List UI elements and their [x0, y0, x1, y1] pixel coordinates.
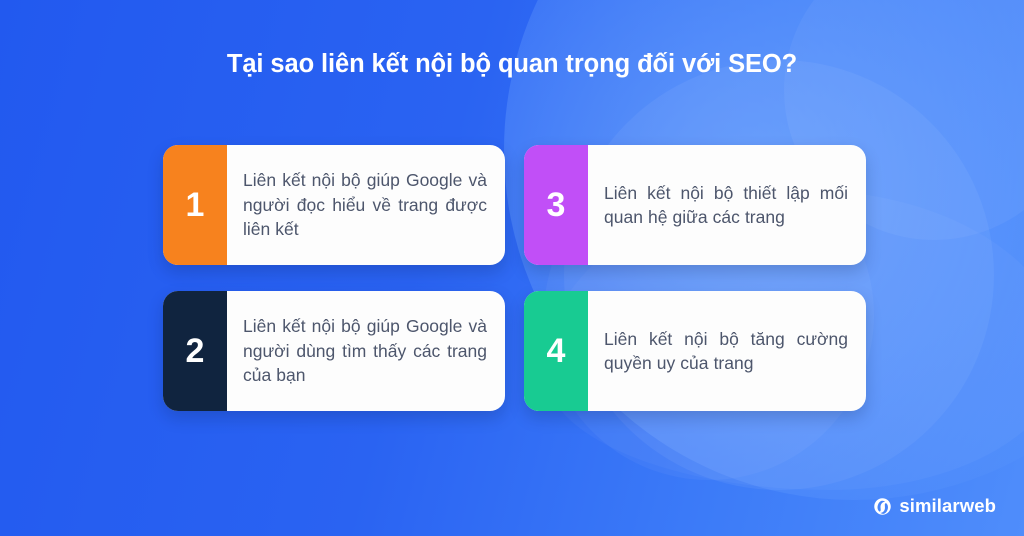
card-number-badge-3: 3 [524, 145, 588, 265]
card-text-4: Liên kết nội bộ tăng cường quyền uy của … [604, 327, 848, 376]
card-body-2: Liên kết nội bộ giúp Google và người dùn… [227, 291, 505, 411]
similarweb-swirl-icon [873, 497, 892, 516]
card-text-2: Liên kết nội bộ giúp Google và người dùn… [243, 314, 487, 388]
card-text-3: Liên kết nội bộ thiết lập mối quan hệ gi… [604, 181, 848, 230]
page-title: Tại sao liên kết nội bộ quan trọng đối v… [0, 49, 1024, 80]
card-body-4: Liên kết nội bộ tăng cường quyền uy của … [588, 291, 866, 411]
benefit-card-4: 4 Liên kết nội bộ tăng cường quyền uy củ… [524, 291, 866, 411]
benefit-card-2: 2 Liên kết nội bộ giúp Google và người d… [163, 291, 505, 411]
card-number-badge-1: 1 [163, 145, 227, 265]
benefit-card-1: 1 Liên kết nội bộ giúp Google và người đ… [163, 145, 505, 265]
card-number-badge-2: 2 [163, 291, 227, 411]
infographic-canvas: Tại sao liên kết nội bộ quan trọng đối v… [0, 0, 1024, 536]
card-body-1: Liên kết nội bộ giúp Google và người đọc… [227, 145, 505, 265]
similarweb-wordmark: similarweb [899, 497, 996, 516]
card-grid: 1 Liên kết nội bộ giúp Google và người đ… [163, 145, 869, 411]
benefit-card-3: 3 Liên kết nội bộ thiết lập mối quan hệ … [524, 145, 866, 265]
card-text-1: Liên kết nội bộ giúp Google và người đọc… [243, 168, 487, 242]
card-body-3: Liên kết nội bộ thiết lập mối quan hệ gi… [588, 145, 866, 265]
similarweb-logo: similarweb [873, 497, 996, 516]
card-number-badge-4: 4 [524, 291, 588, 411]
